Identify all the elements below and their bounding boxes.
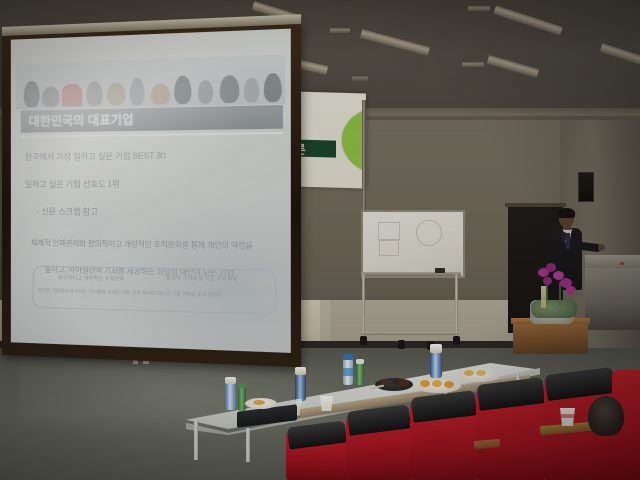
bottle-cap [238, 383, 246, 388]
slide-title: 대한민국의 대표기업 [29, 108, 261, 130]
wall-speaker-icon [578, 172, 594, 202]
yogurt-drink-bottle [295, 374, 306, 401]
slide-line: - 신문 스크랩 참고 [37, 209, 286, 219]
green-soda-bottle [356, 363, 364, 385]
slide-callout-line: 이러한 기업들이 추구하는 우리들의 미래는 어떤 것이 되어야 하는가 그를 … [38, 288, 222, 299]
orchid-petal [543, 277, 552, 285]
ceiling-light [468, 6, 490, 11]
whiteboard-caster [398, 340, 405, 349]
cup-band [561, 414, 574, 418]
whiteboard-marker-tray [361, 272, 461, 276]
presenter-hair [558, 208, 575, 218]
whiteboard-caster [360, 336, 367, 345]
orange-slice [432, 380, 442, 387]
snack [253, 400, 265, 405]
table-leg [194, 420, 198, 460]
paper-cup [296, 399, 302, 407]
slide-line: 일하고 싶은 기업 선호도 1위 [25, 180, 285, 189]
orange-slice [420, 380, 430, 387]
slide-figurine [107, 83, 126, 106]
bottle-cap [225, 377, 236, 384]
green-soda-bottle [238, 387, 246, 411]
equipment-console [585, 268, 640, 330]
door-frame [505, 203, 566, 207]
slide-figurine [264, 73, 282, 102]
whiteboard-crossbar [362, 332, 458, 335]
console-indicator [620, 262, 624, 265]
flower-ribbon [541, 286, 546, 308]
slide-figurine [244, 78, 260, 103]
ceiling-light [352, 76, 368, 81]
bottle-cap [295, 367, 306, 375]
yogurt-drink-bottle [430, 352, 442, 378]
cookie [464, 370, 474, 376]
slide-figurine [24, 81, 40, 108]
projection-screen: 대한민국의 대표기업 한국에서 가장 일하고 싶은 기업 BEST 30 일하고… [2, 21, 301, 368]
slide-figurine [62, 84, 82, 107]
ceiling-light [330, 28, 350, 33]
yogurt-drink-bottle [225, 383, 236, 410]
screen-surface: 대한민국의 대표기업 한국에서 가장 일하고 싶은 기업 BEST 30 일하고… [11, 29, 291, 353]
presenter-tie [566, 233, 570, 249]
orchid-petal [566, 286, 576, 294]
slide-callout-line: 창의적이고 개방적인 조직문화 [58, 274, 125, 283]
slide-photo-strip [16, 55, 285, 110]
podium [513, 322, 588, 354]
whiteboard-leg [362, 274, 365, 336]
slide-body: 한국에서 가장 일하고 싶은 기업 BEST 30 일하고 싶은 기업 선호도 … [19, 136, 285, 278]
slide-figurine [174, 76, 191, 105]
whiteboard-caster [453, 336, 460, 345]
bottle-cap [430, 344, 442, 353]
bottle-label [343, 368, 353, 376]
dark-snack [401, 380, 409, 386]
bottle-cap [356, 359, 364, 364]
microphone-icon [561, 232, 566, 241]
paper-cup [320, 396, 333, 411]
photo-scene: 수회 전략토론 환경공학과 대한민국의 대표 [0, 0, 640, 480]
slide-callout-line: 잠재력 극대화를 위한 기회제공 [166, 274, 238, 283]
bottle-cap [343, 354, 353, 360]
whiteboard-leg [455, 274, 458, 336]
cookie [476, 370, 486, 376]
equipment-console-top [585, 255, 640, 269]
slide-figurine [151, 83, 170, 104]
presenter-hand [598, 244, 605, 251]
slide-figurine [220, 75, 240, 103]
dark-snack [392, 379, 400, 385]
slide-figurine [86, 81, 102, 106]
slide-callout-box: 창의적이고 개방적인 조직문화 잠재력 극대화를 위한 기회제공 이러한 기업들… [33, 266, 277, 315]
slide-figurine [130, 78, 145, 105]
slide-line: 한국에서 가장 일하고 싶은 기업 BEST 30 [25, 151, 285, 162]
slide-figurine [42, 86, 60, 107]
attendee-head [588, 396, 624, 436]
banner-pole [362, 100, 366, 218]
whiteboard-sketch [379, 240, 399, 256]
flower-greenery [531, 300, 577, 318]
slide-figurine [198, 80, 213, 104]
whiteboard [361, 210, 465, 278]
whiteboard-eraser [435, 268, 445, 273]
ceiling-light [462, 62, 484, 67]
whiteboard-sketch [416, 220, 442, 246]
slide-line: 체계적 인재관리와 창의적이고 개방적인 조직문화를 통해 개인의 역량을 [31, 239, 286, 250]
orange-slice [444, 381, 454, 388]
whiteboard-sketch [378, 222, 400, 240]
orchid-petal [546, 263, 556, 272]
table-leg [246, 428, 250, 462]
